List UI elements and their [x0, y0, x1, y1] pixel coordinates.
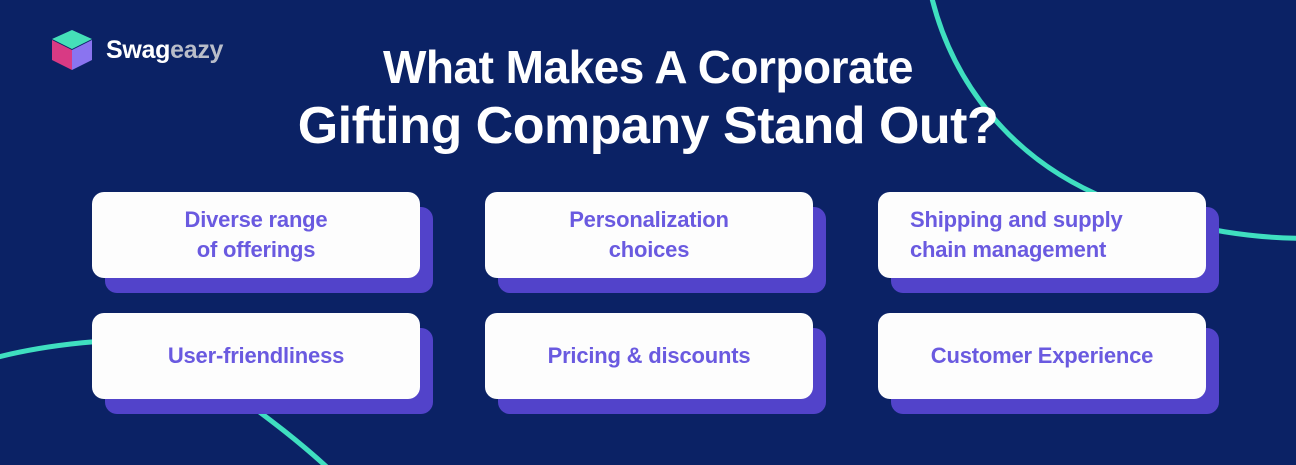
logo-wordmark-primary: Swag	[106, 36, 170, 64]
logo[interactable]: Swageazy	[48, 27, 223, 73]
card-face[interactable]: User-friendliness	[92, 313, 420, 399]
card-face[interactable]: Diverse range of offerings	[92, 192, 420, 278]
card-label: Diverse range of offerings	[185, 205, 328, 265]
feature-card-personalization-choices[interactable]: Personalization choices	[485, 192, 813, 278]
card-label-line-1: Shipping and supply	[910, 207, 1123, 232]
card-label-line-2: chain management	[910, 237, 1106, 262]
page-title-line-2: Gifting Company Stand Out?	[0, 96, 1296, 156]
logo-wordmark: Swageazy	[106, 38, 223, 63]
feature-card-user-friendliness[interactable]: User-friendliness	[92, 313, 420, 399]
card-label: Pricing & discounts	[548, 341, 751, 371]
card-label-line-1: Personalization	[569, 207, 729, 232]
feature-card-diverse-range[interactable]: Diverse range of offerings	[92, 192, 420, 278]
card-label-line-1: Diverse range	[185, 207, 328, 232]
card-label: Shipping and supply chain management	[910, 205, 1123, 265]
card-label-line-2: choices	[609, 237, 690, 262]
card-face[interactable]: Customer Experience	[878, 313, 1206, 399]
feature-card-shipping-supply-chain[interactable]: Shipping and supply chain management	[878, 192, 1206, 278]
feature-card-row-1: Diverse range of offerings Personalizati…	[92, 192, 1222, 278]
card-face[interactable]: Personalization choices	[485, 192, 813, 278]
logo-wordmark-secondary: eazy	[170, 36, 223, 64]
card-label: Personalization choices	[569, 205, 729, 265]
card-face[interactable]: Pricing & discounts	[485, 313, 813, 399]
card-label-line-2: of offerings	[197, 237, 316, 262]
swageazy-cube-icon	[48, 27, 96, 73]
feature-card-customer-experience[interactable]: Customer Experience	[878, 313, 1206, 399]
card-label: User-friendliness	[168, 341, 344, 371]
feature-card-row-2: User-friendliness Pricing & discounts Cu…	[92, 313, 1222, 399]
feature-card-pricing-discounts[interactable]: Pricing & discounts	[485, 313, 813, 399]
feature-card-grid: Diverse range of offerings Personalizati…	[92, 192, 1222, 399]
card-face[interactable]: Shipping and supply chain management	[878, 192, 1206, 278]
infographic-banner: Swageazy What Makes A Corporate Gifting …	[0, 0, 1296, 465]
card-label: Customer Experience	[931, 341, 1153, 371]
